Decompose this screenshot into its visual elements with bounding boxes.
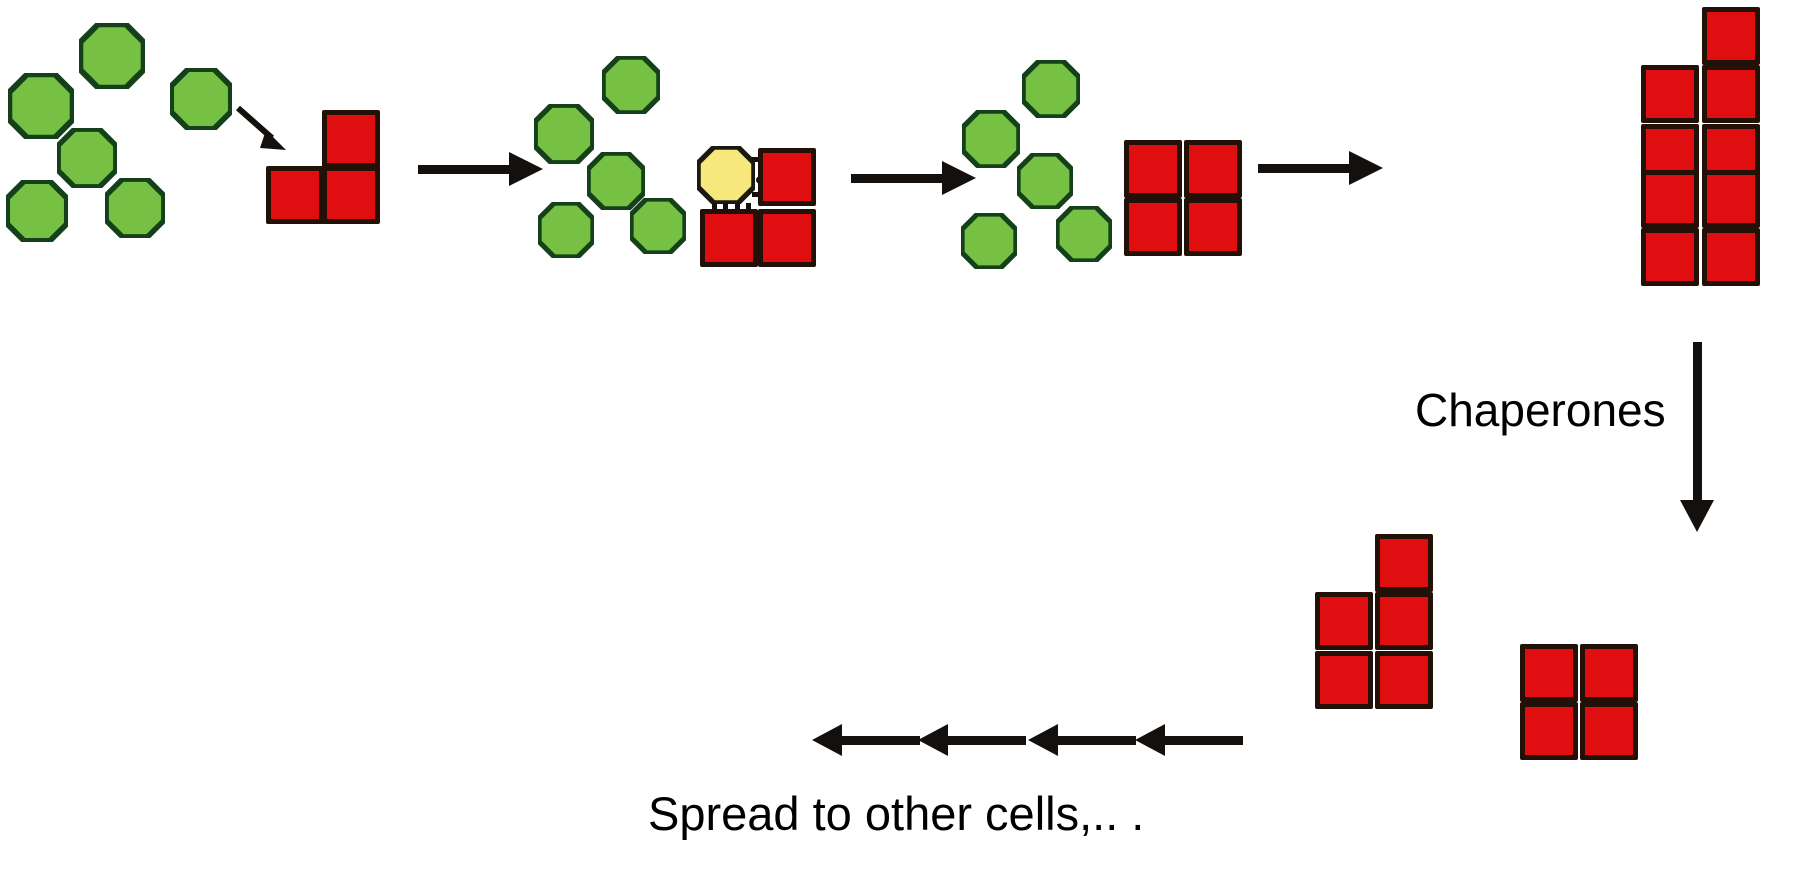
aggregate-unit: [322, 110, 380, 168]
aggregate-unit: [1702, 7, 1760, 65]
aggregate-unit: [1375, 592, 1433, 650]
aggregate-unit: [1641, 170, 1699, 228]
aggregate-unit: [266, 166, 324, 224]
chaperones-label: Chaperones: [1415, 387, 1666, 433]
aggregate-unit: [1702, 65, 1760, 123]
monomer-octagon: [961, 213, 1017, 269]
aggregate-unit: [1520, 644, 1578, 702]
monomer-octagon: [630, 198, 686, 254]
monomer-octagon: [1017, 153, 1073, 209]
aggregate-unit: [758, 148, 816, 206]
monomer-octagon: [6, 180, 68, 242]
monomer-octagon-recruited: [170, 68, 232, 130]
aggregate-unit: [1375, 534, 1433, 592]
spread-label: Spread to other cells,.. .: [648, 790, 1144, 837]
aggregate-unit: [1580, 702, 1638, 760]
aggregate-unit: [758, 209, 816, 267]
monomer-octagon: [962, 110, 1020, 168]
monomer-octagon: [79, 23, 145, 89]
monomer-octagon: [1056, 206, 1112, 262]
monomer-octagon: [602, 56, 660, 114]
aggregate-unit: [1184, 198, 1242, 256]
aggregate-unit: [322, 166, 380, 224]
monomer-octagon: [538, 202, 594, 258]
monomer-octagon-converting: [697, 146, 755, 204]
monomer-octagon: [105, 178, 165, 238]
aggregate-unit: [1641, 65, 1699, 123]
monomer-octagon: [1022, 60, 1080, 118]
monomer-octagon: [534, 104, 594, 164]
aggregate-unit: [1520, 702, 1578, 760]
aggregate-unit: [1124, 198, 1182, 256]
aggregate-unit: [1580, 644, 1638, 702]
recruitment-arrow-icon: [236, 104, 296, 156]
diagram-canvas: Chaperones Spread to other cells,.. .: [0, 0, 1814, 877]
aggregate-unit: [1315, 651, 1373, 709]
aggregate-unit: [1702, 228, 1760, 286]
aggregate-unit: [1184, 140, 1242, 198]
aggregate-unit: [1702, 170, 1760, 228]
aggregate-unit: [700, 209, 758, 267]
aggregate-unit: [1641, 228, 1699, 286]
aggregate-unit: [1315, 592, 1373, 650]
aggregate-unit: [1124, 140, 1182, 198]
aggregate-unit: [1375, 651, 1433, 709]
